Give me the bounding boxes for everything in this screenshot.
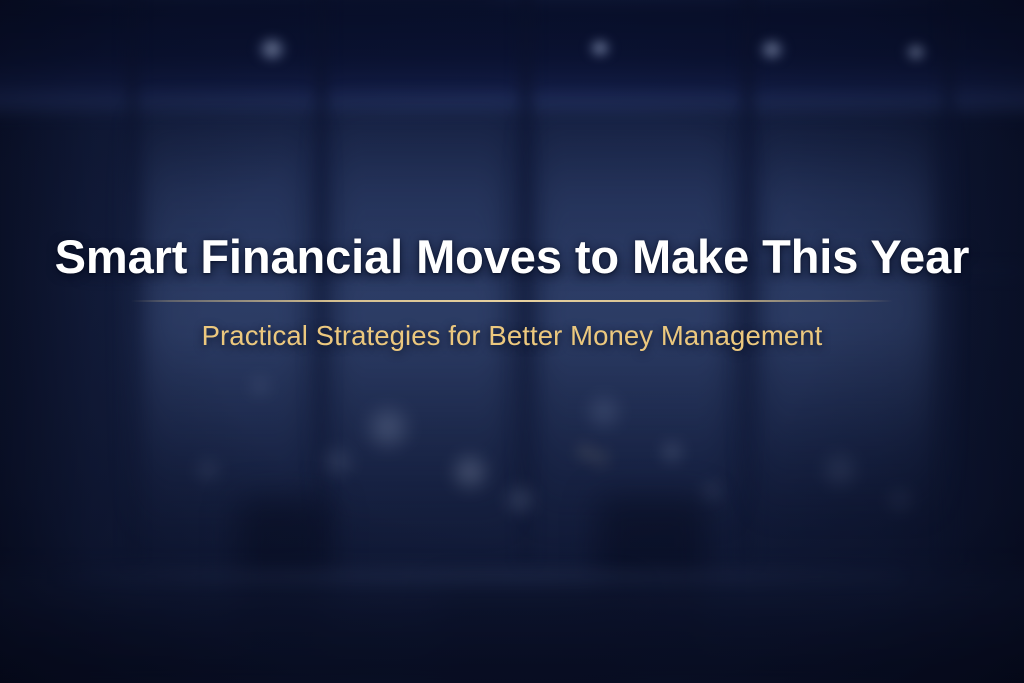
gold-rule-line [131, 300, 893, 302]
city-light-bokeh [361, 401, 415, 455]
title-block: Smart Financial Moves to Make This Year … [0, 232, 1024, 352]
city-light-bokeh [501, 481, 539, 519]
ceiling-spotlight [255, 37, 289, 61]
title-slide: Smart Financial Moves to Make This Year … [0, 0, 1024, 683]
city-light-bokeh [657, 437, 687, 467]
desk-edge-highlight [40, 572, 904, 581]
city-light-bokeh [191, 453, 225, 487]
page-title: Smart Financial Moves to Make This Year [0, 232, 1024, 283]
city-light-bokeh [245, 371, 275, 401]
city-light-bokeh [318, 442, 358, 482]
city-light-bokeh [882, 482, 918, 518]
ceiling-spotlight [587, 39, 613, 57]
ceiling-slab [0, 0, 1024, 108]
foreground-desk-surface [0, 575, 1024, 683]
ceiling-spotlight [757, 39, 787, 60]
title-divider [131, 300, 893, 302]
city-light-bokeh [582, 390, 626, 434]
ceiling-spotlight [903, 43, 929, 61]
city-light-bokeh [574, 441, 596, 463]
city-light-bokeh [447, 449, 493, 495]
page-subtitle: Practical Strategies for Better Money Ma… [0, 320, 1024, 352]
city-light-bokeh [817, 447, 863, 493]
